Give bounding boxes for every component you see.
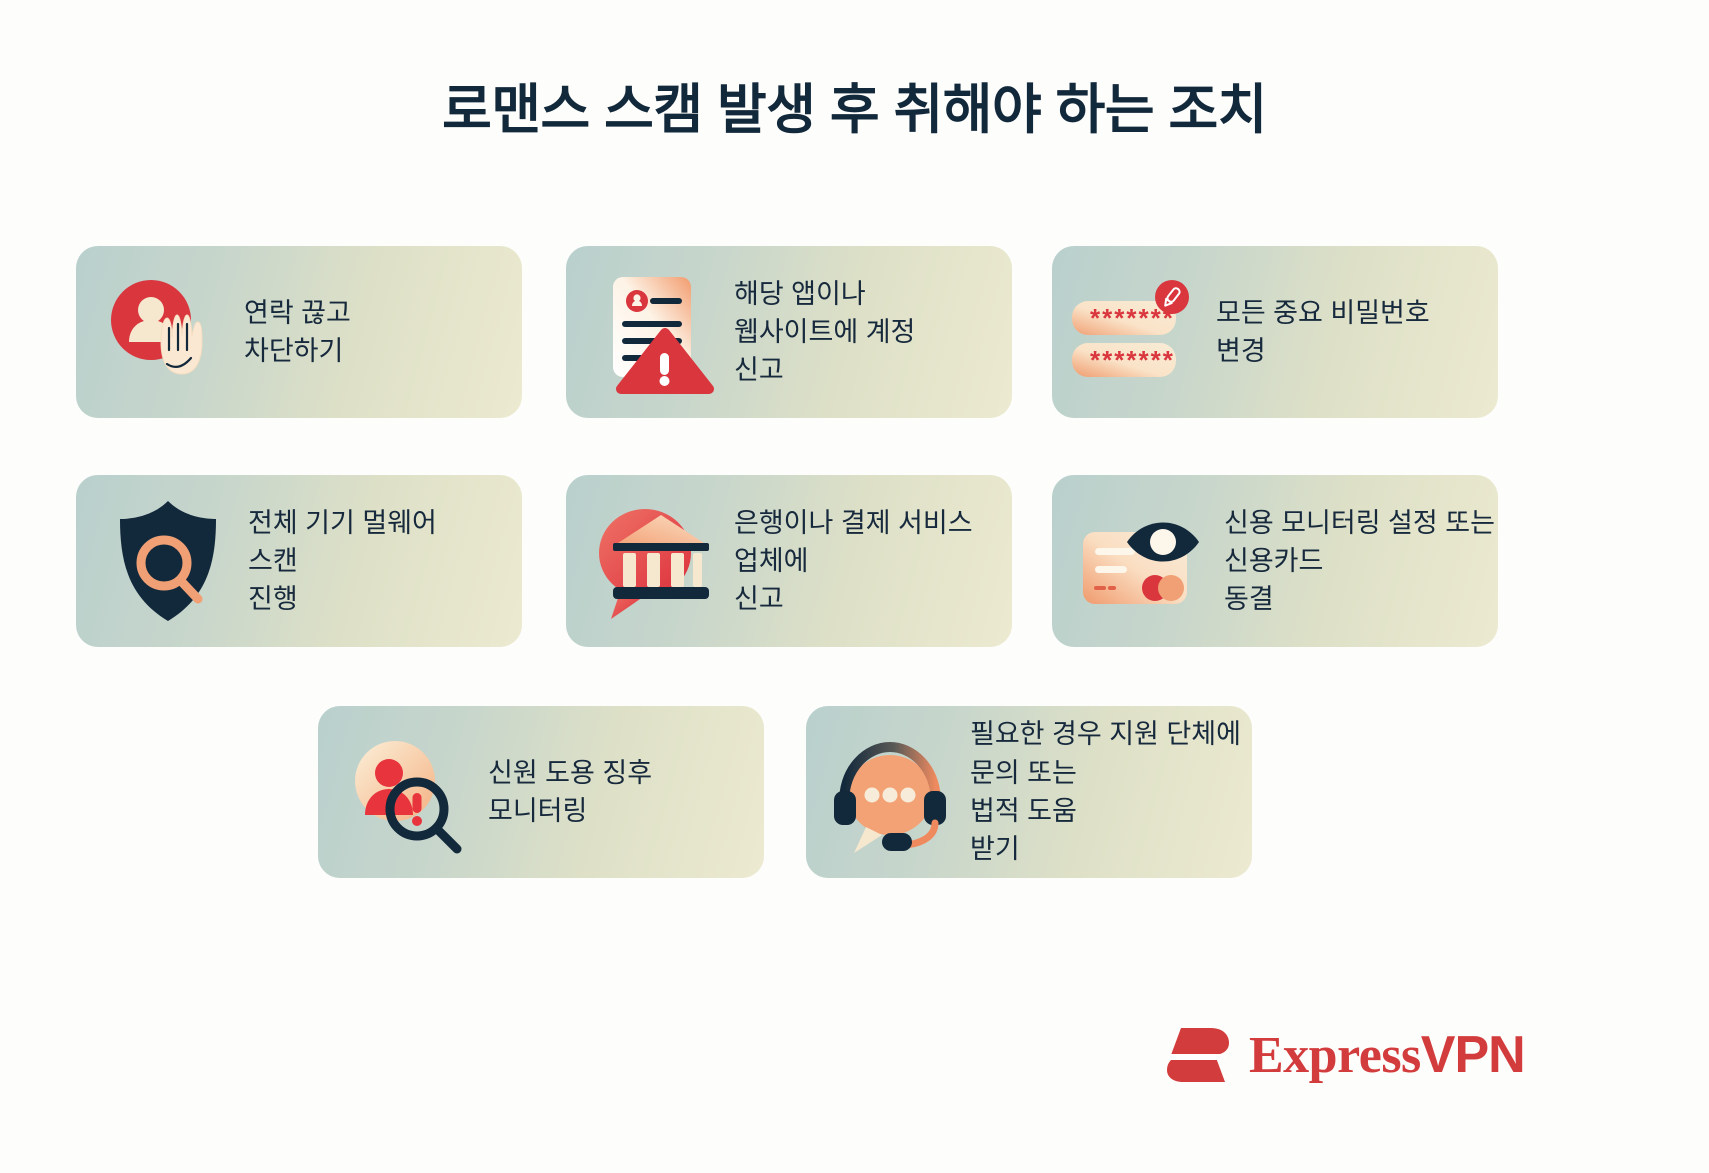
step-card-label: 신원 도용 징후 모니터링 <box>488 754 652 831</box>
password-mask-2: ******* <box>1090 345 1175 375</box>
expressvpn-logo: ExpressVPN <box>1163 1024 1525 1086</box>
page-title: 로맨스 스캠 발생 후 취해야 하는 조치 <box>0 78 1709 143</box>
step-card-change-passwords: ******* ******* 모든 중요 비밀번호 변경 <box>1052 246 1498 418</box>
identity-theft-magnifier-icon <box>338 729 478 855</box>
step-card-label: 은행이나 결제 서비스 업체에 신고 <box>734 504 973 619</box>
support-headset-bubble-icon <box>820 729 960 855</box>
infographic-page: 로맨스 스캠 발생 후 취해야 하는 조치 연락 끊고 차단하기 <box>0 0 1709 1173</box>
step-card-label: 해당 앱이나 웹사이트에 계정 신고 <box>734 275 915 390</box>
expressvpn-wordmark: ExpressVPN <box>1249 1025 1525 1085</box>
credit-card-eye-monitor-icon <box>1074 506 1214 616</box>
step-card-label: 모든 중요 비밀번호 변경 <box>1216 294 1430 371</box>
step-card-label: 연락 끊고 차단하기 <box>244 294 351 371</box>
step-card-report-bank: 은행이나 결제 서비스 업체에 신고 <box>566 475 1012 647</box>
password-change-edit-icon: ******* ******* <box>1066 277 1206 387</box>
logo-vpn-text: VPN <box>1421 1026 1525 1084</box>
step-card-contact-block: 연락 끊고 차단하기 <box>76 246 522 418</box>
step-card-credit-monitoring: 신용 모니터링 설정 또는 신용카드 동결 <box>1052 475 1498 647</box>
person-block-hand-icon <box>94 272 234 392</box>
bank-report-bubble-icon <box>584 497 724 625</box>
step-card-identity-monitoring: 신원 도용 징후 모니터링 <box>318 706 764 878</box>
step-card-label: 전체 기기 멀웨어 스캔 진행 <box>248 504 437 619</box>
document-report-warning-icon <box>594 269 724 395</box>
step-card-support-legal-help: 필요한 경우 지원 단체에 문의 또는 법적 도움 받기 <box>806 706 1252 878</box>
shield-malware-scan-icon <box>98 497 238 625</box>
step-card-report-account: 해당 앱이나 웹사이트에 계정 신고 <box>566 246 1012 418</box>
expressvpn-mark-icon <box>1163 1024 1233 1086</box>
step-card-label: 신용 모니터링 설정 또는 신용카드 동결 <box>1224 504 1495 619</box>
logo-express-text: Express <box>1249 1027 1421 1084</box>
step-card-malware-scan: 전체 기기 멀웨어 스캔 진행 <box>76 475 522 647</box>
step-card-label: 필요한 경우 지원 단체에 문의 또는 법적 도움 받기 <box>970 715 1241 868</box>
